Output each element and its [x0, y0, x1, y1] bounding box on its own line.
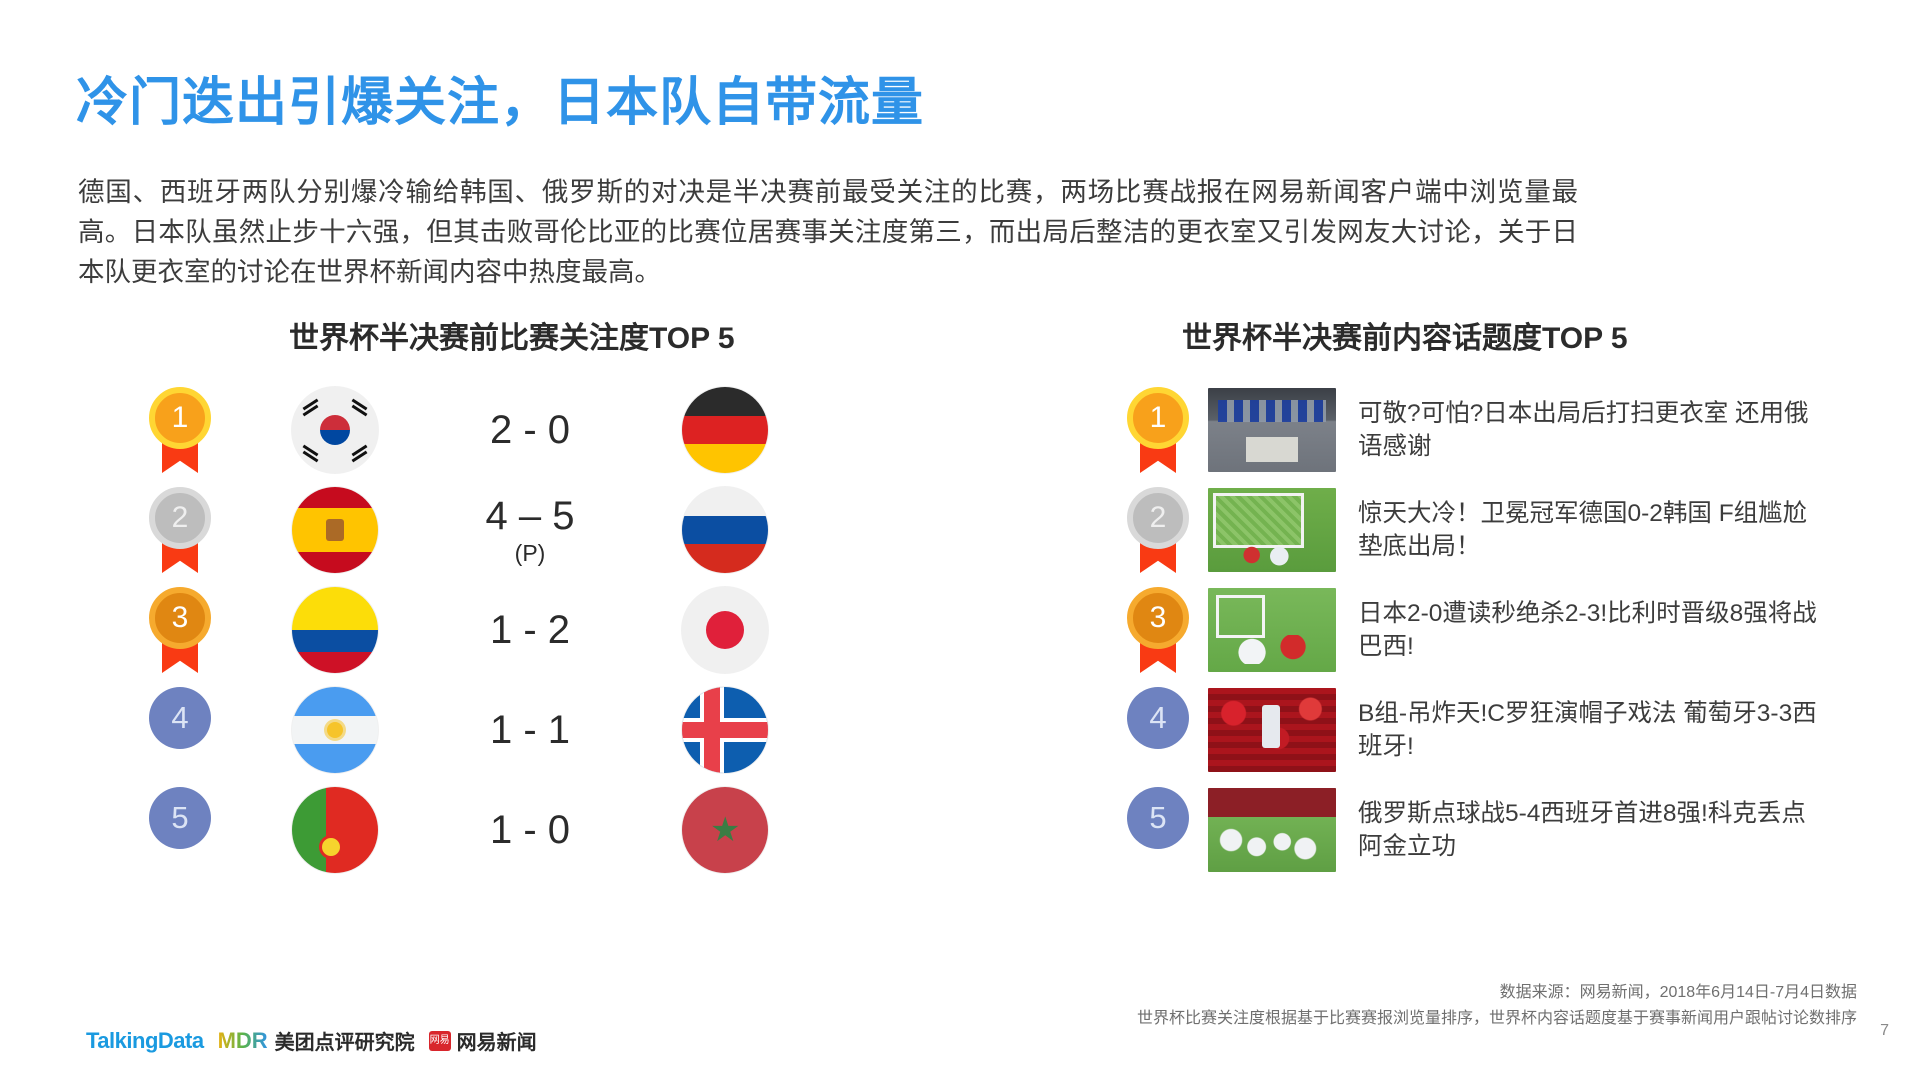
page-title: 冷门迭出引爆关注，日本队自带流量	[76, 60, 924, 135]
news-headline[interactable]: B组-吊炸天!C罗狂演帽子戏法 葡萄牙3-3西班牙!	[1358, 697, 1828, 763]
home-flag-cell	[240, 387, 430, 473]
score-cell: 2 - 0	[430, 410, 630, 450]
score-cell: 4 – 5 (P)	[430, 496, 630, 565]
score-text: 4 – 5	[486, 494, 575, 538]
rank-cell: 1	[120, 387, 240, 473]
news-thumbnail	[1208, 588, 1336, 672]
home-flag-cell	[240, 487, 430, 573]
rank-cell: 4	[1108, 687, 1208, 773]
away-flag-cell	[630, 587, 820, 673]
rank-number: 1	[149, 387, 211, 449]
rank-number: 4	[149, 687, 211, 749]
flag-portugal-icon	[292, 787, 378, 873]
source-line-2: 世界杯比赛关注度根据基于比赛赛报浏览量排序，世界杯内容话题度基于赛事新闻用户跟帖…	[877, 1006, 1857, 1032]
penalty-note: (P)	[430, 542, 630, 565]
rank-badge-4-icon: 4	[149, 687, 211, 773]
news-row: 5 俄罗斯点球战5-4西班牙首进8强!科克丢点阿金立功	[1108, 780, 1868, 880]
news-row: 3 日本2-0遭读秒绝杀2-3!比利时晋级8强将战巴西!	[1108, 580, 1868, 680]
netease-chip-icon: 网易	[429, 1031, 451, 1051]
match-row: 1 2 - 0	[120, 380, 920, 480]
rank-number: 5	[149, 787, 211, 849]
rank-medal-gold-icon: 1	[1127, 387, 1189, 473]
home-flag-cell	[240, 787, 430, 873]
footer-logos: TalkingData MDR 美团点评研究院 网易 网易新闻	[86, 1026, 537, 1055]
rank-number: 5	[1127, 787, 1189, 849]
score-text: 2 - 0	[490, 408, 570, 452]
rank-cell: 3	[120, 587, 240, 673]
topics-section-heading: 世界杯半决赛前内容话题度TOP 5	[1182, 313, 1628, 357]
flag-iceland-icon	[682, 687, 768, 773]
news-row: 1 可敬?可怕?日本出局后打扫更衣室 还用俄语感谢	[1108, 380, 1868, 480]
rank-badge-5-icon: 5	[1127, 787, 1189, 873]
rank-medal-bronze-icon: 3	[149, 587, 211, 673]
flag-russia-icon	[682, 487, 768, 573]
news-thumbnail	[1208, 688, 1336, 772]
rank-number: 2	[1127, 487, 1189, 549]
score-text: 1 - 0	[490, 808, 570, 852]
topic-ranking-list: 1 可敬?可怕?日本出局后打扫更衣室 还用俄语感谢 2 惊天大冷！卫冕冠军德国0…	[1108, 380, 1868, 880]
rank-medal-silver-icon: 2	[149, 487, 211, 573]
flag-germany-icon	[682, 387, 768, 473]
rank-badge-5-icon: 5	[149, 787, 211, 873]
rank-number: 4	[1127, 687, 1189, 749]
mdr-logo: MDR 美团点评研究院	[218, 1026, 415, 1055]
news-headline[interactable]: 惊天大冷！卫冕冠军德国0-2韩国 F组尴尬垫底出局！	[1358, 497, 1828, 563]
talkingdata-logo: TalkingData	[86, 1028, 204, 1054]
match-row: 3 1 - 2	[120, 580, 920, 680]
source-line-1: 数据来源：网易新闻，2018年6月14日-7月4日数据	[877, 980, 1857, 1006]
match-row: 4 1 - 1	[120, 680, 920, 780]
mdr-label: 美团点评研究院	[275, 1026, 415, 1055]
slide-root: 冷门迭出引爆关注，日本队自带流量 德国、西班牙两队分别爆冷输给韩国、俄罗斯的对决…	[0, 0, 1921, 1080]
news-headline[interactable]: 可敬?可怕?日本出局后打扫更衣室 还用俄语感谢	[1358, 397, 1828, 463]
rank-number: 2	[149, 487, 211, 549]
score-cell: 1 - 0	[430, 810, 630, 850]
rank-cell: 3	[1108, 587, 1208, 673]
rank-cell: 4	[120, 687, 240, 773]
match-row: 2 4 – 5 (P)	[120, 480, 920, 580]
score-cell: 1 - 1	[430, 710, 630, 750]
rank-cell: 2	[1108, 487, 1208, 573]
matches-section-heading: 世界杯半决赛前比赛关注度TOP 5	[289, 313, 735, 357]
netease-label: 网易新闻	[457, 1026, 537, 1055]
score-text: 1 - 1	[490, 708, 570, 752]
flag-colombia-icon	[292, 587, 378, 673]
rank-number: 1	[1127, 387, 1189, 449]
data-source-note: 数据来源：网易新闻，2018年6月14日-7月4日数据 世界杯比赛关注度根据基于…	[877, 980, 1857, 1032]
match-ranking-list: 1 2 - 0	[120, 380, 920, 880]
news-headline[interactable]: 日本2-0遭读秒绝杀2-3!比利时晋级8强将战巴西!	[1358, 597, 1828, 663]
away-flag-cell	[630, 487, 820, 573]
rank-number: 3	[1127, 587, 1189, 649]
score-cell: 1 - 2	[430, 610, 630, 650]
mdr-mark: MDR	[218, 1028, 268, 1054]
flag-argentina-icon	[292, 687, 378, 773]
away-flag-cell	[630, 387, 820, 473]
summary-paragraph: 德国、西班牙两队分别爆冷输给韩国、俄罗斯的对决是半决赛前最受关注的比赛，两场比赛…	[78, 172, 1578, 292]
rank-medal-gold-icon: 1	[149, 387, 211, 473]
rank-cell: 1	[1108, 387, 1208, 473]
rank-badge-4-icon: 4	[1127, 687, 1189, 773]
flag-spain-icon	[292, 487, 378, 573]
flag-japan-icon	[682, 587, 768, 673]
news-row: 2 惊天大冷！卫冕冠军德国0-2韩国 F组尴尬垫底出局！	[1108, 480, 1868, 580]
score-text: 1 - 2	[490, 608, 570, 652]
match-row: 5 1 - 0 ★	[120, 780, 920, 880]
away-flag-cell	[630, 687, 820, 773]
news-thumbnail	[1208, 788, 1336, 872]
news-thumbnail	[1208, 488, 1336, 572]
flag-morocco-icon: ★	[682, 787, 768, 873]
rank-medal-bronze-icon: 3	[1127, 587, 1189, 673]
rank-cell: 5	[1108, 787, 1208, 873]
rank-medal-silver-icon: 2	[1127, 487, 1189, 573]
netease-logo: 网易 网易新闻	[429, 1026, 537, 1055]
flag-south-korea-icon	[292, 387, 378, 473]
rank-cell: 5	[120, 787, 240, 873]
home-flag-cell	[240, 687, 430, 773]
away-flag-cell: ★	[630, 787, 820, 873]
news-row: 4 B组-吊炸天!C罗狂演帽子戏法 葡萄牙3-3西班牙!	[1108, 680, 1868, 780]
page-number: 7	[1880, 1022, 1889, 1040]
rank-cell: 2	[120, 487, 240, 573]
rank-number: 3	[149, 587, 211, 649]
news-thumbnail	[1208, 388, 1336, 472]
home-flag-cell	[240, 587, 430, 673]
news-headline[interactable]: 俄罗斯点球战5-4西班牙首进8强!科克丢点阿金立功	[1358, 797, 1828, 863]
